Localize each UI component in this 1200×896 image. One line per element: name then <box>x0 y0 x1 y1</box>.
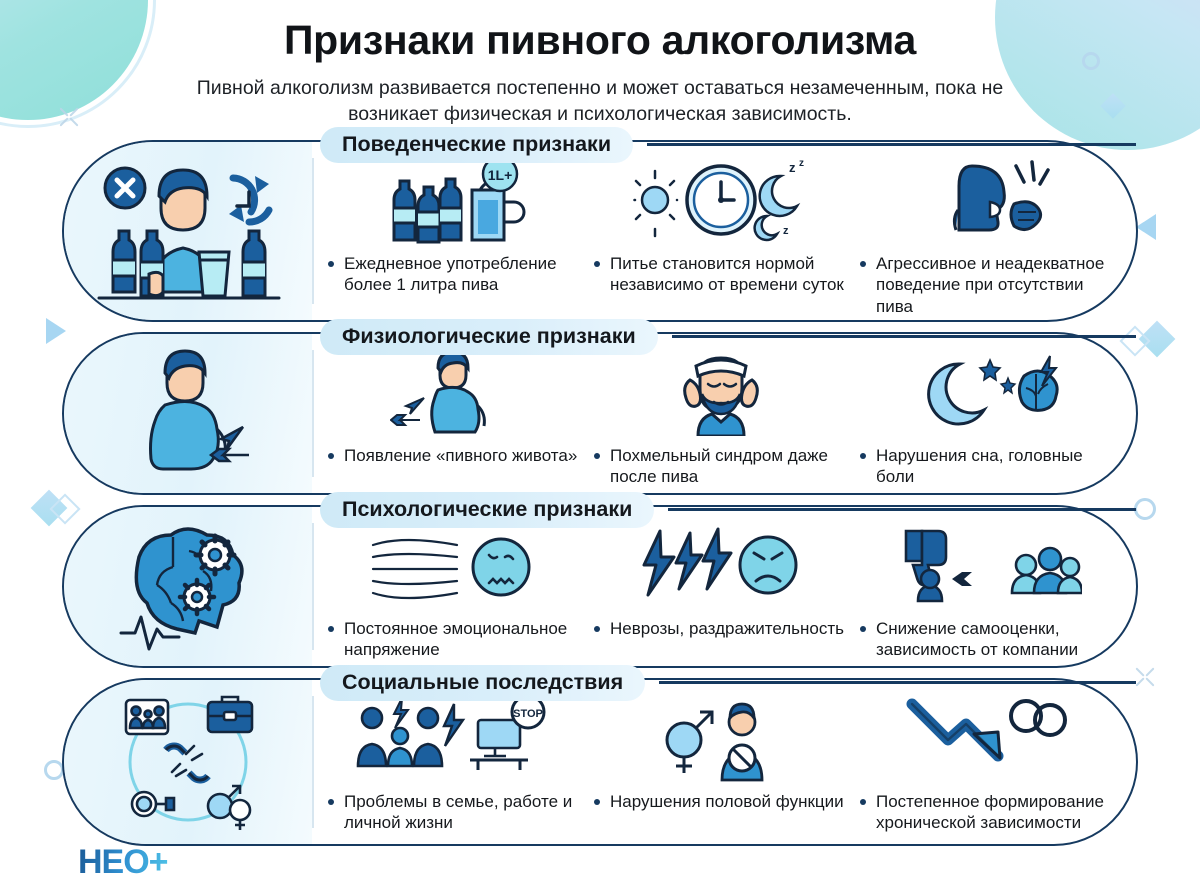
card-art-panel <box>64 334 312 493</box>
section-title-psychological[interactable]: Психологические признаки <box>320 492 654 528</box>
card-physiological: Появление «пивного живота» <box>62 332 1138 495</box>
card-art-panel <box>64 142 312 320</box>
list-item: Неврозы, раздражительность <box>590 519 852 639</box>
list-item-text: Появление «пивного живота» <box>324 445 586 466</box>
brain-with-gears-icon <box>93 521 283 651</box>
list-item-text: Неврозы, раздражительность <box>590 618 852 639</box>
list-item: Постоянное эмоциональное напряжение <box>324 519 586 661</box>
section-social: Социальные последствия <box>62 678 1138 846</box>
list-item: Агрессивное и неадекватное поведение при… <box>856 154 1118 317</box>
list-item-text: Питье становится нормой независимо от вр… <box>590 253 852 296</box>
svg-text:z: z <box>789 160 796 175</box>
list-item: z z z Питье становится нормой независимо… <box>590 154 852 296</box>
section-physiological: Физиологические признаки <box>62 332 1138 495</box>
family-conflict-work-stop-icon: STOP <box>324 696 586 782</box>
card-social: STOP Проблемы в семье, работе и личной ж… <box>62 678 1138 846</box>
man-with-beer-bottles-icon <box>83 156 293 306</box>
section-behavioral: Поведенческие признаки <box>62 140 1138 322</box>
svg-text:z: z <box>799 158 804 169</box>
list-item: Похмельный синдром даже после пива <box>590 346 852 488</box>
sections-container: Поведенческие признаки <box>0 134 1200 846</box>
thumbs-down-group-icon <box>856 523 1118 609</box>
list-item: STOP Проблемы в семье, работе и личной ж… <box>324 692 586 834</box>
gender-symbol-blocked-man-icon <box>590 696 852 782</box>
downward-arrow-chain-links-icon <box>856 696 1118 782</box>
section-title-physiological[interactable]: Физиологические признаки <box>320 319 658 355</box>
card-art-panel <box>64 680 312 844</box>
page-subtitle: Пивной алкоголизм развивается постепенно… <box>185 75 1015 128</box>
tension-wavy-lines-worried-face-icon <box>324 523 586 609</box>
list-item-text: Нарушения половой функции <box>590 791 852 812</box>
section-psychological: Психологические признаки <box>62 505 1138 668</box>
card-art-panel <box>64 507 312 666</box>
page-title: Признаки пивного алкоголизма <box>0 18 1200 63</box>
beer-belly-profile-icon <box>324 350 586 436</box>
card-items-psychological: Постоянное эмоциональное напряжение <box>312 507 1136 666</box>
card-items-social: STOP Проблемы в семье, работе и личной ж… <box>312 680 1136 844</box>
lightning-angry-face-icon <box>590 523 852 609</box>
list-item-text: Проблемы в семье, работе и личной жизни <box>324 791 586 834</box>
man-with-belly-side-view-icon <box>93 343 283 483</box>
list-item-text: Нарушения сна, головные боли <box>856 445 1118 488</box>
list-item: 1L+ Ежедневное употребление более 1 литр… <box>324 154 586 296</box>
card-divider <box>312 350 314 477</box>
list-item: Нарушения сна, головные боли <box>856 346 1118 488</box>
card-behavioral: 1L+ Ежедневное употребление более 1 литр… <box>62 140 1138 322</box>
list-item: Постепенное формирование хронической зав… <box>856 692 1118 834</box>
svg-text:z: z <box>783 225 789 237</box>
card-items-behavioral: 1L+ Ежедневное употребление более 1 литр… <box>312 142 1136 320</box>
card-items-physiological: Появление «пивного живота» <box>312 334 1136 493</box>
three-bottles-and-mug-icon: 1L+ <box>324 158 586 244</box>
card-divider <box>312 158 314 304</box>
page-header: Признаки пивного алкоголизма Пивной алко… <box>0 0 1200 134</box>
card-psychological: Постоянное эмоциональное напряжение <box>62 505 1138 668</box>
list-item-text: Постепенное формирование хронической зав… <box>856 791 1118 834</box>
list-item-text: Агрессивное и неадекватное поведение при… <box>856 253 1118 317</box>
liter-badge-label: 1L+ <box>488 167 513 183</box>
list-item-text: Похмельный синдром даже после пива <box>590 445 852 488</box>
list-item: Снижение самооценки, зависимость от комп… <box>856 519 1118 661</box>
list-item: Нарушения половой функции <box>590 692 852 812</box>
list-item-text: Ежедневное употребление более 1 литра пи… <box>324 253 586 296</box>
card-divider <box>312 523 314 650</box>
card-divider <box>312 696 314 828</box>
clock-day-night-icon: z z z <box>590 158 852 244</box>
hangover-headache-man-icon <box>590 350 852 436</box>
angry-shouting-man-icon <box>856 158 1118 244</box>
section-title-social[interactable]: Социальные последствия <box>320 665 645 701</box>
broken-chain-family-work-icon <box>88 692 288 832</box>
list-item: Появление «пивного живота» <box>324 346 586 466</box>
stop-badge-label: STOP <box>513 708 543 720</box>
list-item-text: Постоянное эмоциональное напряжение <box>324 618 586 661</box>
moon-stars-brain-icon <box>856 350 1118 436</box>
list-item-text: Снижение самооценки, зависимость от комп… <box>856 618 1118 661</box>
brand-logo: НЕО+ <box>78 843 168 882</box>
